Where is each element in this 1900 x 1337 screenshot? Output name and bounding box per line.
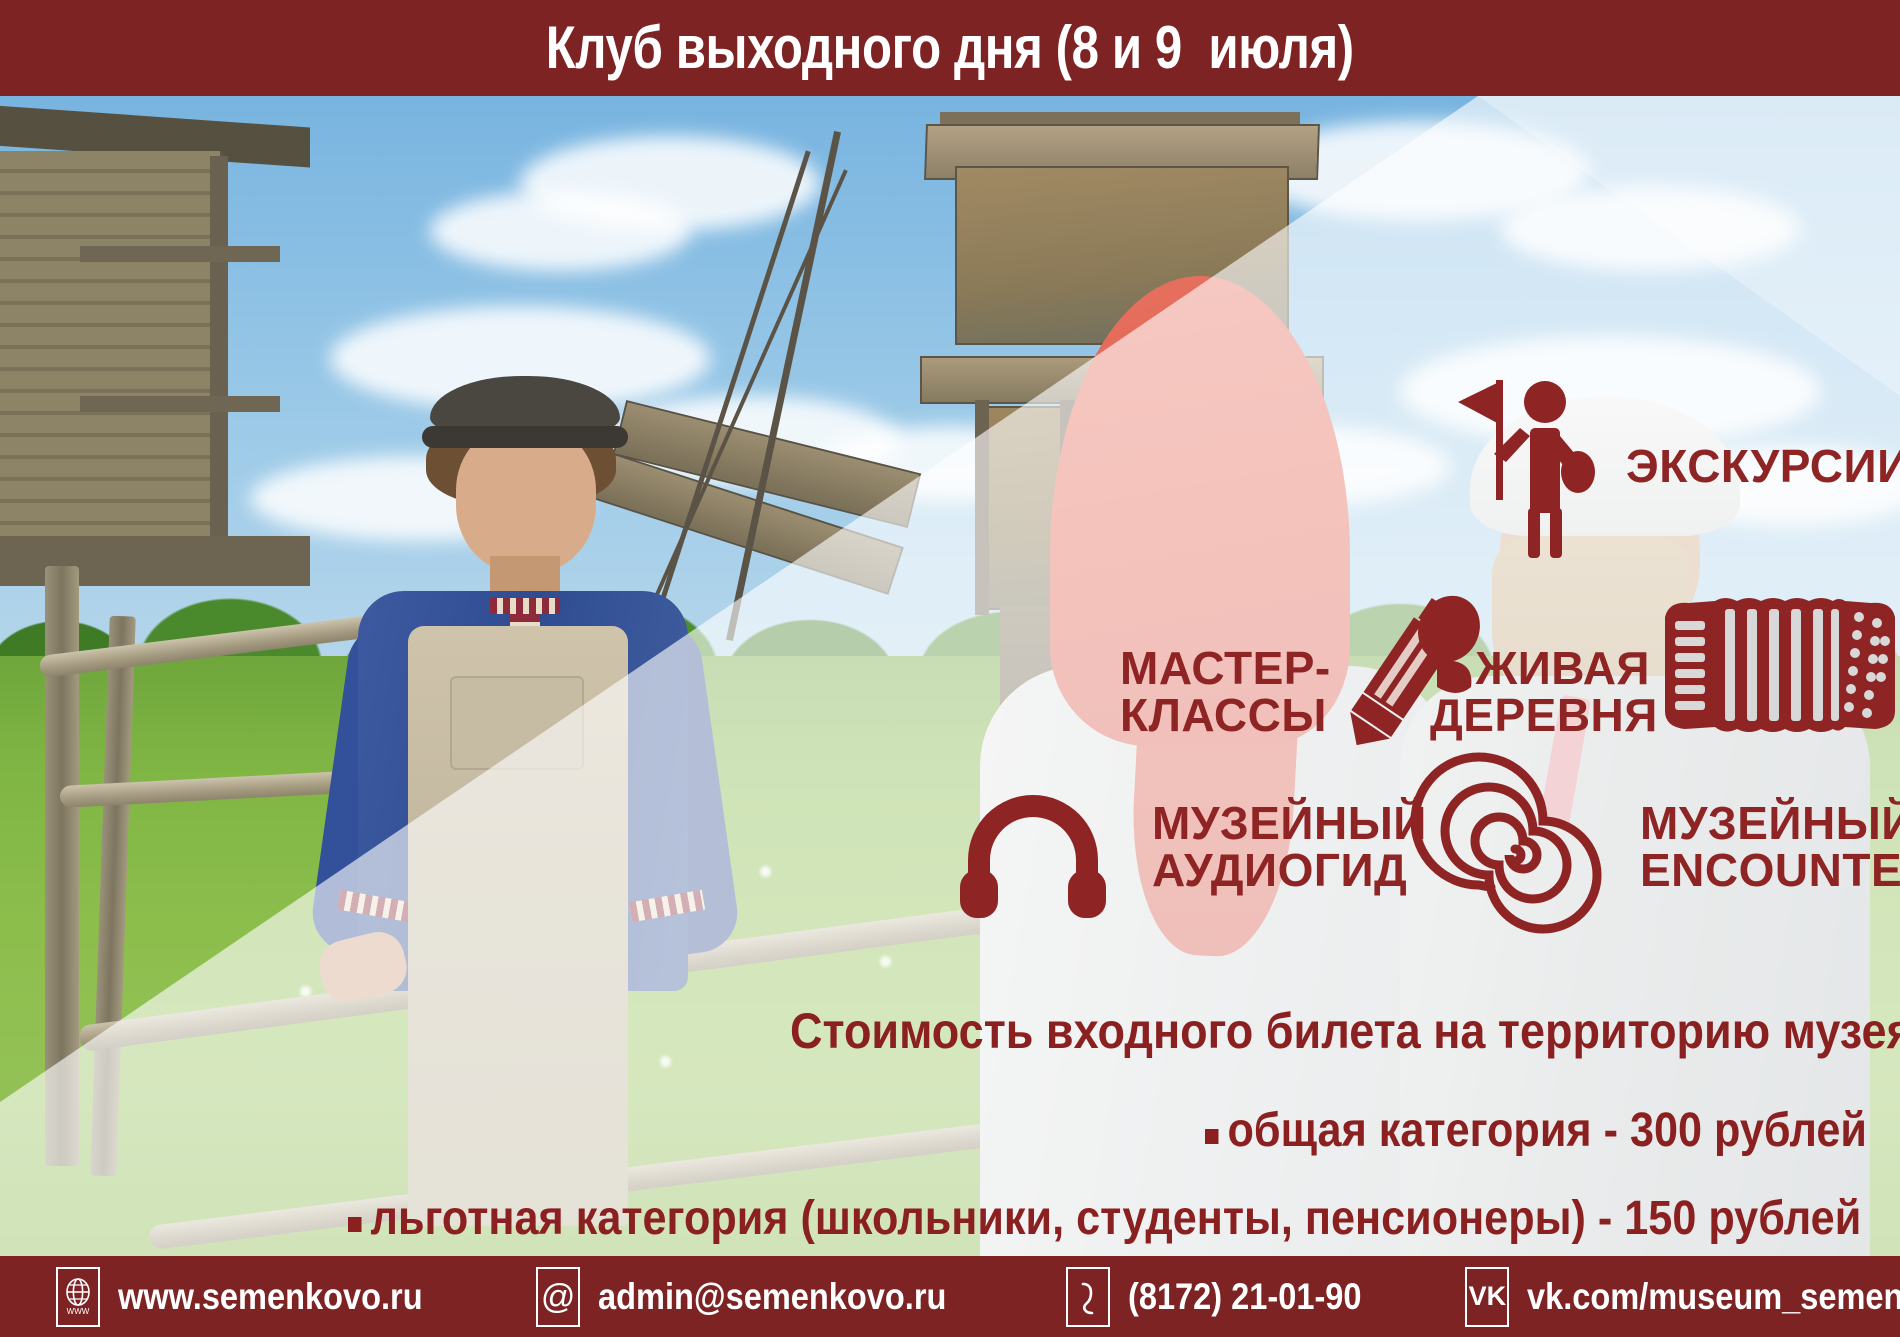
- label-line-2: ENCOUNTER: [1640, 847, 1888, 894]
- man-cap-brim: [422, 426, 628, 448]
- pricing-item-reduced: льготная категория (школьники, студенты,…: [348, 1191, 1861, 1246]
- label-line-1: МАСТЕР-: [1120, 645, 1331, 692]
- page-title: Клуб выходного дня (8 и 9 июля): [546, 18, 1354, 78]
- at-glyph: @: [541, 1280, 576, 1314]
- phone-icon: [1066, 1267, 1110, 1327]
- hut-beam: [80, 396, 280, 412]
- label-line-1: МУЗЕЙНЫЙ: [1640, 800, 1888, 847]
- email-text: admin@semenkovo.ru: [598, 1276, 946, 1318]
- pricing-item-text: льготная категория (школьники, студенты,…: [371, 1192, 1862, 1245]
- website-text: www.semenkovo.ru: [118, 1276, 423, 1318]
- bullet-marker: [1205, 1129, 1219, 1144]
- label-line-1: ЖИВАЯ: [1430, 645, 1650, 692]
- title-bar: Клуб выходного дня (8 и 9 июля): [0, 0, 1900, 96]
- accordion-icon: [1655, 595, 1900, 735]
- hut-beam: [80, 246, 280, 262]
- headphones-icon: [958, 788, 1108, 918]
- cloud: [430, 191, 690, 271]
- pricing-item-general: общая категория - 300 рублей: [1205, 1103, 1867, 1158]
- hut-beam: [210, 156, 228, 546]
- vk-text: vk.com/museum_semenkovo: [1527, 1276, 1900, 1318]
- feature-encounter-label[interactable]: МУЗЕЙНЫЙ ENCOUNTER: [1640, 800, 1888, 894]
- label-text: ЭКСКУРСИИ: [1626, 440, 1900, 492]
- feature-living-village-label[interactable]: ЖИВАЯ ДЕРЕВНЯ: [1430, 645, 1650, 739]
- poster-root: Клуб выходного дня (8 и 9 июля): [0, 0, 1900, 1337]
- man-collar-embroidery: [490, 598, 560, 614]
- vk-icon: VK: [1465, 1267, 1509, 1327]
- spiral-icon: [1442, 782, 1588, 928]
- feature-masterclasses-label[interactable]: МАСТЕР- КЛАССЫ: [1120, 645, 1331, 739]
- hut-wall: [0, 151, 223, 571]
- contact-phone[interactable]: (8172) 21-01-90: [1066, 1256, 1393, 1337]
- pricing-item-text: общая категория - 300 рублей: [1228, 1104, 1867, 1157]
- bullet-marker: [348, 1217, 362, 1232]
- label-line-2: АУДИОГИД: [1152, 847, 1384, 894]
- label-line-2: ДЕРЕВНЯ: [1430, 692, 1650, 739]
- contact-vk[interactable]: VK vk.com/museum_semenkovo: [1465, 1256, 1900, 1337]
- feature-encounter[interactable]: [1442, 782, 1588, 928]
- guide-with-flag-icon: [1450, 380, 1610, 560]
- feature-audioguide-label[interactable]: МУЗЕЙНЫЙ АУДИОГИД: [1152, 800, 1384, 894]
- label-line-2: КЛАССЫ: [1120, 692, 1331, 739]
- feature-excursions-label[interactable]: ЭКСКУРСИИ: [1626, 443, 1900, 490]
- contact-email[interactable]: @ admin@semenkovo.ru: [536, 1256, 994, 1337]
- at-email-icon: @: [536, 1267, 580, 1327]
- label-line-1: МУЗЕЙНЫЙ: [1152, 800, 1384, 847]
- svg-text:WWW: WWW: [67, 1307, 90, 1316]
- feature-audioguide[interactable]: [958, 788, 1108, 918]
- feature-excursions[interactable]: [1450, 380, 1610, 560]
- pricing-heading: Стоимость входного билета на территорию …: [790, 1002, 1900, 1060]
- contact-website[interactable]: WWW www.semenkovo.ru: [56, 1256, 464, 1337]
- vk-glyph: VK: [1469, 1283, 1507, 1310]
- phone-text: (8172) 21-01-90: [1128, 1276, 1362, 1318]
- feature-living-village[interactable]: [1655, 595, 1900, 735]
- globe-www-icon: WWW: [56, 1267, 100, 1327]
- pricing-heading-text: Стоимость входного билета на территорию …: [790, 1003, 1900, 1059]
- footer-bar: WWW www.semenkovo.ru @ admin@semenkovo.r…: [0, 1256, 1900, 1337]
